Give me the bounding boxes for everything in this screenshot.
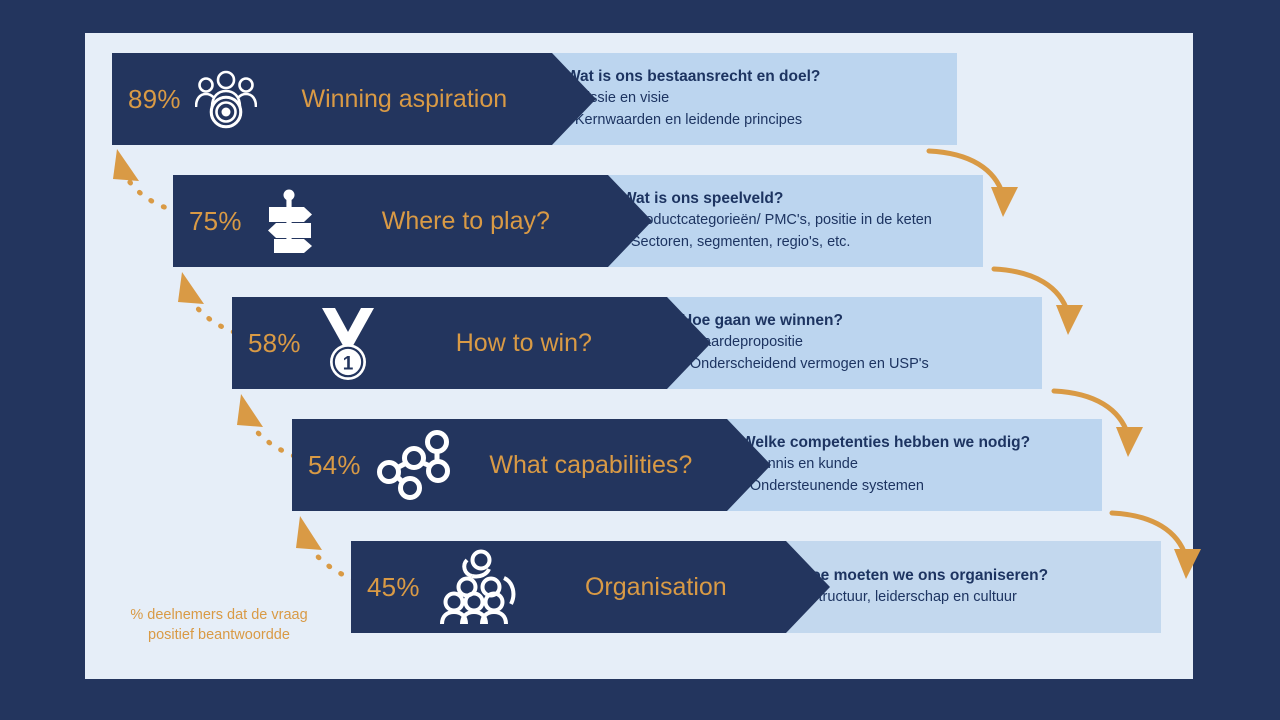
network-nodes-icon xyxy=(375,429,455,501)
chevron-5[interactable]: 45% xyxy=(351,541,786,633)
percent-label-1: 89% xyxy=(128,84,181,115)
row-title-2: Where to play? xyxy=(324,207,608,236)
svg-text:1: 1 xyxy=(342,354,353,375)
percent-label-4: 54% xyxy=(308,450,361,481)
detail-question-3: Hoe gaan we winnen? xyxy=(681,310,1042,332)
signpost-icon xyxy=(256,187,324,255)
legend-caption-line2: positief beantwoordde xyxy=(99,626,339,646)
detail-panel-2: Wat is ons speelveld? - Productcategorie… xyxy=(608,175,983,267)
detail-panel-4: Welke competenties hebben we nodig? - Ke… xyxy=(727,419,1102,511)
legend-caption: % deelnemers dat de vraag positief beant… xyxy=(99,606,339,645)
detail-bullet-4-1: - Kennis en kunde xyxy=(741,454,1102,476)
chevron-3[interactable]: 58% 1 How to win? xyxy=(232,297,667,389)
detail-panel-1: Wat is ons bestaansrecht en doel? - Miss… xyxy=(552,53,957,145)
slide-canvas: Wat is ons bestaansrecht en doel? - Miss… xyxy=(85,33,1193,679)
detail-bullet-3-1: - Waardepropositie xyxy=(681,332,1042,354)
row-title-1: Winning aspiration xyxy=(257,85,552,114)
detail-question-5: Hoe moeten we ons organiseren? xyxy=(800,565,1161,587)
crowd-people-icon xyxy=(434,548,526,626)
row-title-3: How to win? xyxy=(381,329,667,358)
detail-bullet-2-1: - Productcategorieën/ PMC's, positie in … xyxy=(622,210,983,232)
detail-bullet-4-2: - Ondersteunende systemen xyxy=(741,476,1102,498)
medal-icon: 1 xyxy=(315,305,381,381)
legend-caption-line1: % deelnemers dat de vraag xyxy=(99,606,339,626)
percent-label-2: 75% xyxy=(189,206,242,237)
row-title-5: Organisation xyxy=(526,573,786,602)
detail-bullet-2-2: - Sectoren, segmenten, regio's, etc. xyxy=(622,232,983,254)
row-organisation[interactable]: Hoe moeten we ons organiseren? - Structu… xyxy=(351,541,1161,633)
chevron-1[interactable]: 89% Winning aspiration xyxy=(112,53,552,145)
pyramid-rows: Wat is ons bestaansrecht en doel? - Miss… xyxy=(85,33,1193,679)
percent-label-5: 45% xyxy=(367,572,420,603)
detail-question-1: Wat is ons bestaansrecht en doel? xyxy=(566,66,957,88)
detail-bullet-3-2: - Onderscheidend vermogen en USP's xyxy=(681,354,1042,376)
row-where-to-play[interactable]: Wat is ons speelveld? - Productcategorie… xyxy=(173,175,983,267)
chevron-2[interactable]: 75% Where to play? xyxy=(173,175,608,267)
percent-label-3: 58% xyxy=(248,328,301,359)
row-how-to-win[interactable]: Hoe gaan we winnen? - Waardepropositie -… xyxy=(232,297,1042,389)
detail-question-2: Wat is ons speelveld? xyxy=(622,188,983,210)
chevron-4[interactable]: 54% What capabilities? xyxy=(292,419,727,511)
detail-panel-5: Hoe moeten we ons organiseren? - Structu… xyxy=(786,541,1161,633)
detail-bullet-1-1: - Missie en visie xyxy=(566,88,957,110)
detail-panel-3: Hoe gaan we winnen? - Waardepropositie -… xyxy=(667,297,1042,389)
detail-question-4: Welke competenties hebben we nodig? xyxy=(741,432,1102,454)
people-target-icon xyxy=(195,69,257,129)
row-winning-aspiration[interactable]: Wat is ons bestaansrecht en doel? - Miss… xyxy=(112,53,957,145)
detail-bullet-5-1: - Structuur, leiderschap en cultuur xyxy=(800,587,1161,609)
row-title-4: What capabilities? xyxy=(455,451,727,480)
row-what-capabilities[interactable]: Welke competenties hebben we nodig? - Ke… xyxy=(292,419,1102,511)
detail-bullet-1-2: - Kernwaarden en leidende principes xyxy=(566,110,957,132)
